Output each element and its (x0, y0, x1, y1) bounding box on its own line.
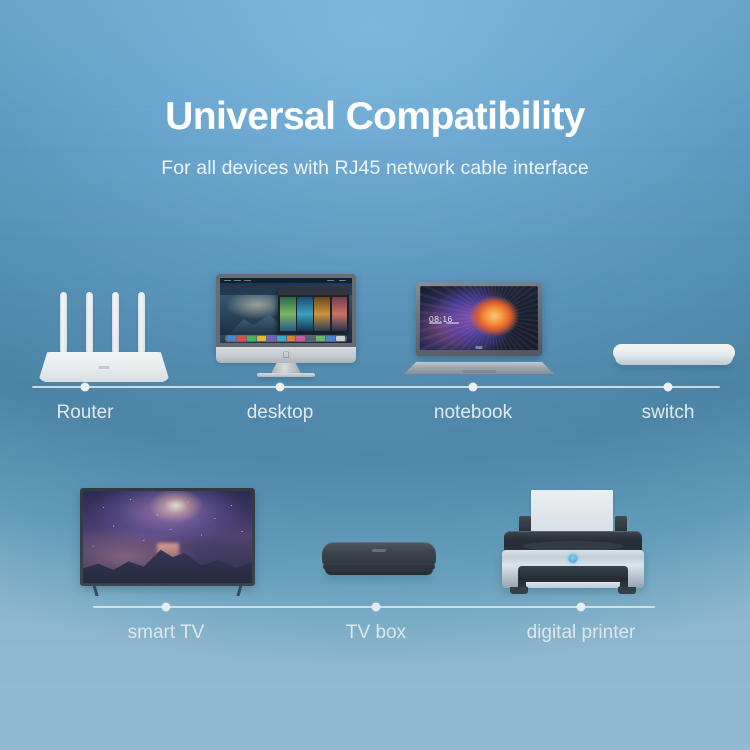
connector-dot (469, 383, 478, 392)
laptop-screen: 08:16 (420, 286, 538, 350)
laptop-screen-text (429, 322, 459, 324)
apple-logo-icon:  (283, 351, 290, 360)
laptop-icon: 08:16 (404, 282, 554, 382)
connector-row-two: smart TV TV box digital printer (0, 606, 750, 650)
tv-box-logo-icon (372, 549, 386, 552)
tv-frame (80, 488, 255, 586)
tv-box-bottom (325, 569, 433, 575)
connector-dot (577, 603, 586, 612)
tv-leg-left (92, 585, 98, 596)
promo-banner: Universal Compatibility For all devices … (0, 0, 750, 750)
tv-leg-right (236, 585, 242, 596)
printer-foot-right (618, 587, 636, 594)
desktop-dock (225, 335, 346, 342)
desktop-computer-icon:  (216, 274, 356, 382)
desktop-chin:  (216, 347, 356, 363)
printer-icon (502, 490, 644, 596)
desktop-bezel (216, 274, 356, 347)
device-row-one:  08:16 (0, 264, 750, 382)
connector-dot (276, 383, 285, 392)
app-photo-columns (278, 295, 349, 333)
connector-dot (372, 603, 381, 612)
device-label-switch: switch (642, 402, 695, 424)
printer-paper-sheet (531, 490, 613, 532)
network-switch-icon (613, 344, 735, 374)
device-label-tv-box: TV box (346, 622, 406, 644)
printer-foot-left (510, 587, 528, 594)
router-antenna-icon (138, 292, 145, 354)
router-antenna-icon (60, 292, 67, 354)
printer-power-button[interactable] (569, 554, 578, 563)
page-subtitle: For all devices with RJ45 network cable … (0, 157, 750, 180)
desktop-photo-app-window (278, 289, 349, 333)
connector-row-one: Router desktop notebook switch (0, 386, 750, 430)
connector-dot (664, 383, 673, 392)
laptop-lid: 08:16 (416, 282, 543, 356)
connector-line (32, 386, 720, 388)
laptop-brand-logo-icon (475, 346, 482, 349)
page-title: Universal Compatibility (0, 96, 750, 139)
device-label-desktop: desktop (247, 402, 314, 424)
device-label-notebook: notebook (434, 402, 512, 424)
device-label-smart-tv: smart TV (128, 622, 205, 644)
device-row-two (0, 478, 750, 596)
device-label-router: Router (56, 402, 113, 424)
printer-output-tray (526, 582, 620, 588)
connector-dot (81, 383, 90, 392)
router-logo-icon (99, 366, 110, 369)
desktop-stand-foot (257, 373, 315, 377)
desktop-menu-bar (220, 278, 352, 283)
router-icon (38, 282, 170, 382)
connector-dot (162, 603, 171, 612)
router-antenna-icon (86, 292, 93, 354)
router-antenna-icon (112, 292, 119, 354)
device-label-digital-printer: digital printer (527, 622, 636, 644)
laptop-trackpad (462, 370, 496, 373)
set-top-box-icon (322, 542, 436, 582)
television-icon (80, 488, 255, 596)
tv-screen (83, 491, 252, 583)
switch-front-face (615, 357, 733, 365)
desktop-screen (220, 278, 352, 343)
header: Universal Compatibility For all devices … (0, 96, 750, 180)
